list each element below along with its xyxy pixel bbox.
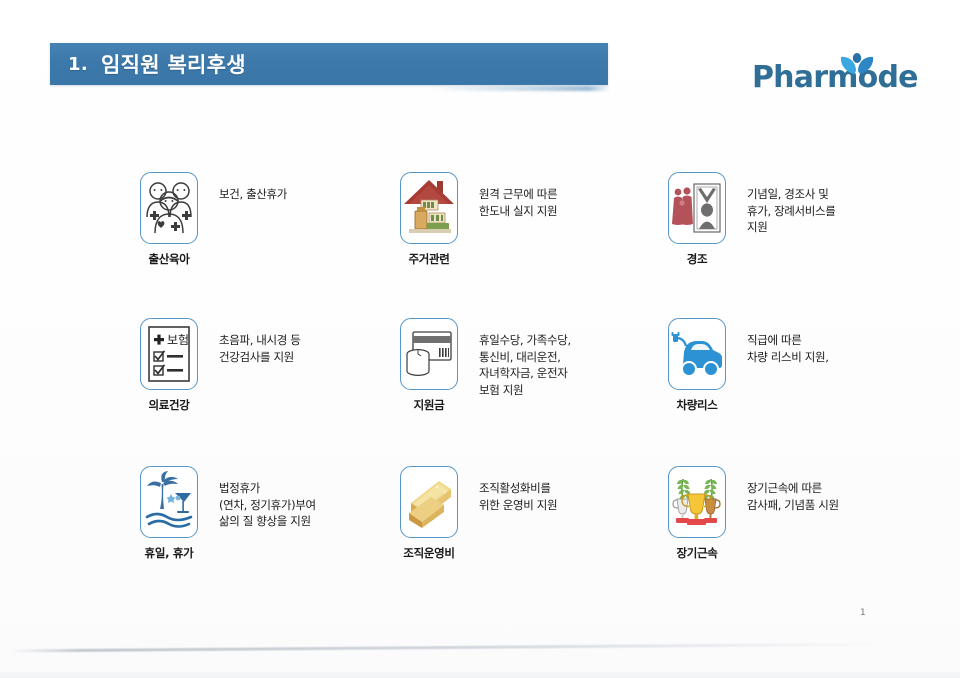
benefit-item-holidays[interactable]: 휴일, 휴가 법정휴가 (연차, 정기휴가)부여 삶의 질 향상을 지원 (140, 466, 420, 561)
benefit-label: 주거관련 (400, 251, 458, 267)
electric-car-icon (668, 318, 726, 390)
benefit-description: 기념일, 경조사 및 휴가, 장례서비스를 지원 (747, 186, 835, 236)
benefit-item-operating-cost[interactable]: 조직운영비 조직활성화비를 위한 운영비 지원 (400, 466, 680, 561)
beach-vacation-icon (140, 466, 198, 538)
credit-card-coins-icon (400, 318, 458, 390)
svg-text:보험: 보험 (167, 333, 189, 347)
benefit-label: 경조 (668, 251, 726, 267)
page-number: 1 (860, 608, 866, 618)
benefits-grid: 출산육아 보건, 출산휴가 (0, 0, 960, 678)
benefit-description: 법정휴가 (연차, 정기휴가)부여 삶의 질 향상을 지원 (219, 480, 316, 530)
benefit-description: 장기근속에 따른 감사패, 기념품 시원 (747, 480, 839, 513)
benefit-item-allowance[interactable]: 지원금 휴일수당, 가족수당, 통신비, 대리운전, 자녀학자금, 운전자 보험… (400, 318, 680, 413)
benefit-label: 조직운영비 (400, 545, 458, 561)
trophies-icon (668, 466, 726, 538)
benefit-label: 출산육아 (140, 251, 198, 267)
benefit-label: 의료건강 (140, 397, 198, 413)
family-healthcare-icon (140, 172, 198, 244)
benefit-label: 장기근속 (668, 545, 726, 561)
benefit-label: 지원금 (400, 397, 458, 413)
gold-bar-icon (400, 466, 458, 538)
wedding-funeral-icon (668, 172, 726, 244)
benefit-item-childbirth[interactable]: 출산육아 보건, 출산휴가 (140, 172, 420, 267)
benefit-description: 초음파, 내시경 등 건강검사를 지원 (219, 332, 301, 365)
benefit-item-medical[interactable]: 보험 의료건강 초음파, 내시경 등 건강검사를 (140, 318, 420, 413)
benefit-label: 휴일, 휴가 (140, 545, 198, 561)
benefit-description: 원격 근무에 따른 한도내 실지 지원 (479, 186, 557, 219)
benefit-description: 조직활성화비를 위한 운영비 지원 (479, 480, 557, 513)
benefit-item-car-lease[interactable]: 차량리스 직급에 따른 차량 리스비 지원, (668, 318, 948, 413)
benefit-description: 직급에 따른 차량 리스비 지원, (747, 332, 829, 365)
slide-page: 1. 임직원 복리후생 Pharmode (0, 0, 960, 678)
benefit-item-family-events[interactable]: 경조 기념일, 경조사 및 휴가, 장례서비스를 지원 (668, 172, 948, 267)
benefit-item-long-service[interactable]: 장기근속 장기근속에 따른 감사패, 기념품 시원 (668, 466, 948, 561)
benefit-item-housing[interactable]: 주거관련 원격 근무에 따른 한도내 실지 지원 (400, 172, 680, 267)
insurance-clipboard-icon: 보험 (140, 318, 198, 390)
house-icon (400, 172, 458, 244)
scan-bottom-shadow (0, 672, 960, 678)
benefit-label: 차량리스 (668, 397, 726, 413)
benefit-description: 보건, 출산휴가 (219, 186, 287, 203)
benefit-description: 휴일수당, 가족수당, 통신비, 대리운전, 자녀학자금, 운전자 보험 지원 (479, 332, 571, 399)
